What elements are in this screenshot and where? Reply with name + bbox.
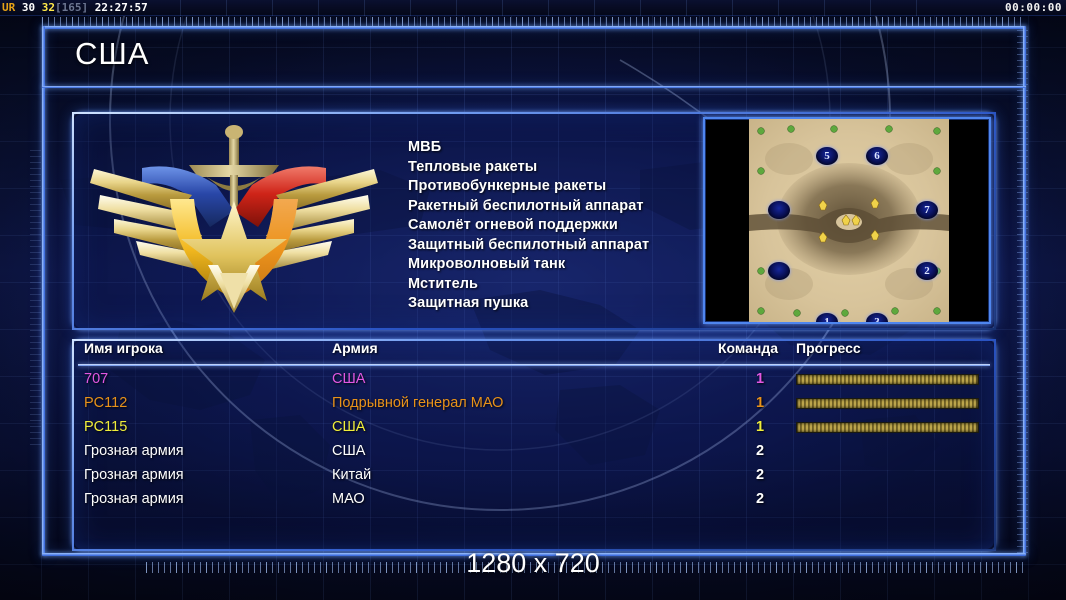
cell-player-name: Грозная армия: [84, 443, 184, 459]
ability-item: Защитная пушка: [408, 294, 708, 314]
table-row[interactable]: PC115США1: [84, 419, 984, 443]
cell-player-name: PC115: [84, 419, 127, 435]
map-preview-image: [749, 119, 949, 322]
hud-value-2: 32: [42, 1, 55, 14]
hud-bracket-value: [165]: [55, 1, 88, 14]
progress-bar: [796, 398, 979, 409]
top-hud-bar: UR 30 32[165] 22:27:57 00:00:00: [0, 0, 1066, 16]
table-row[interactable]: 707США1: [84, 371, 984, 395]
cell-progress: [796, 419, 979, 433]
cell-army: МАО: [332, 491, 365, 507]
table-row[interactable]: Грозная армияМАО2: [84, 491, 984, 515]
cell-army: Китай: [332, 467, 371, 483]
map-start-position: 1: [816, 313, 838, 324]
table-row[interactable]: PC112Подрывной генерал МАО1: [84, 395, 984, 419]
column-header-army: Армия: [332, 340, 378, 356]
page-title: США: [75, 36, 149, 72]
ability-item: Противобункерные ракеты: [408, 177, 708, 197]
ability-item: Тепловые ракеты: [408, 158, 708, 178]
cell-team: 1: [740, 371, 780, 387]
cell-player-name: Грозная армия: [84, 491, 184, 507]
cell-army: США: [332, 443, 365, 459]
cell-team: 1: [740, 419, 780, 435]
cell-player-name: 707: [84, 371, 108, 387]
ability-item: Самолёт огневой поддержки: [408, 216, 708, 236]
hud-clock: 22:27:57: [95, 1, 148, 14]
column-header-team: Команда: [718, 340, 778, 356]
map-start-position: 6: [866, 147, 888, 165]
cell-player-name: Грозная армия: [84, 467, 184, 483]
progress-bar: [796, 422, 979, 433]
cell-player-name: PC112: [84, 395, 127, 411]
frame-right-line: [1023, 26, 1026, 556]
column-header-player: Имя игрока: [84, 340, 163, 356]
ability-item: МВБ: [408, 138, 708, 158]
column-header-progress: Прогресс: [796, 340, 861, 356]
hud-label: UR: [2, 1, 15, 14]
ability-item: Защитный беспилотный аппарат: [408, 236, 708, 256]
ability-item: Мститель: [408, 275, 708, 295]
title-row: США: [42, 26, 1026, 88]
cell-progress: [796, 395, 979, 409]
table-header-row: Имя игрока Армия Команда Прогресс: [84, 340, 984, 364]
table-header-divider: [78, 364, 990, 366]
hud-stats: UR 30 32[165] 22:27:57: [2, 0, 148, 16]
frame-left-line: [42, 26, 45, 556]
table-row[interactable]: Грозная армияКитай2: [84, 467, 984, 491]
ability-item: Ракетный беспилотный аппарат: [408, 197, 708, 217]
top-hud-ticks: [180, 0, 946, 16]
cell-progress: [796, 371, 979, 385]
resolution-label: 1280 x 720: [0, 548, 1066, 579]
player-table: Имя игрока Армия Команда Прогресс 707США…: [72, 339, 996, 551]
map-start-position: 3: [866, 313, 888, 324]
map-preview[interactable]: 567213: [703, 117, 991, 324]
cell-army: Подрывной генерал МАО: [332, 395, 503, 411]
cell-army: США: [332, 371, 365, 387]
faction-ability-list: МВБ Тепловые ракеты Противобункерные рак…: [408, 138, 708, 314]
ruler-left: [30, 150, 41, 450]
hud-timer: 00:00:00: [1005, 0, 1062, 16]
cell-army: США: [332, 419, 365, 435]
progress-bar: [796, 374, 979, 385]
cell-team: 2: [740, 491, 780, 507]
hud-value-1: 30: [22, 1, 35, 14]
cell-team: 2: [740, 443, 780, 459]
cell-team: 1: [740, 395, 780, 411]
table-row[interactable]: Грозная армияСША2: [84, 443, 984, 467]
ability-item: Микроволновый танк: [408, 255, 708, 275]
cell-team: 2: [740, 467, 780, 483]
map-start-position: 5: [816, 147, 838, 165]
